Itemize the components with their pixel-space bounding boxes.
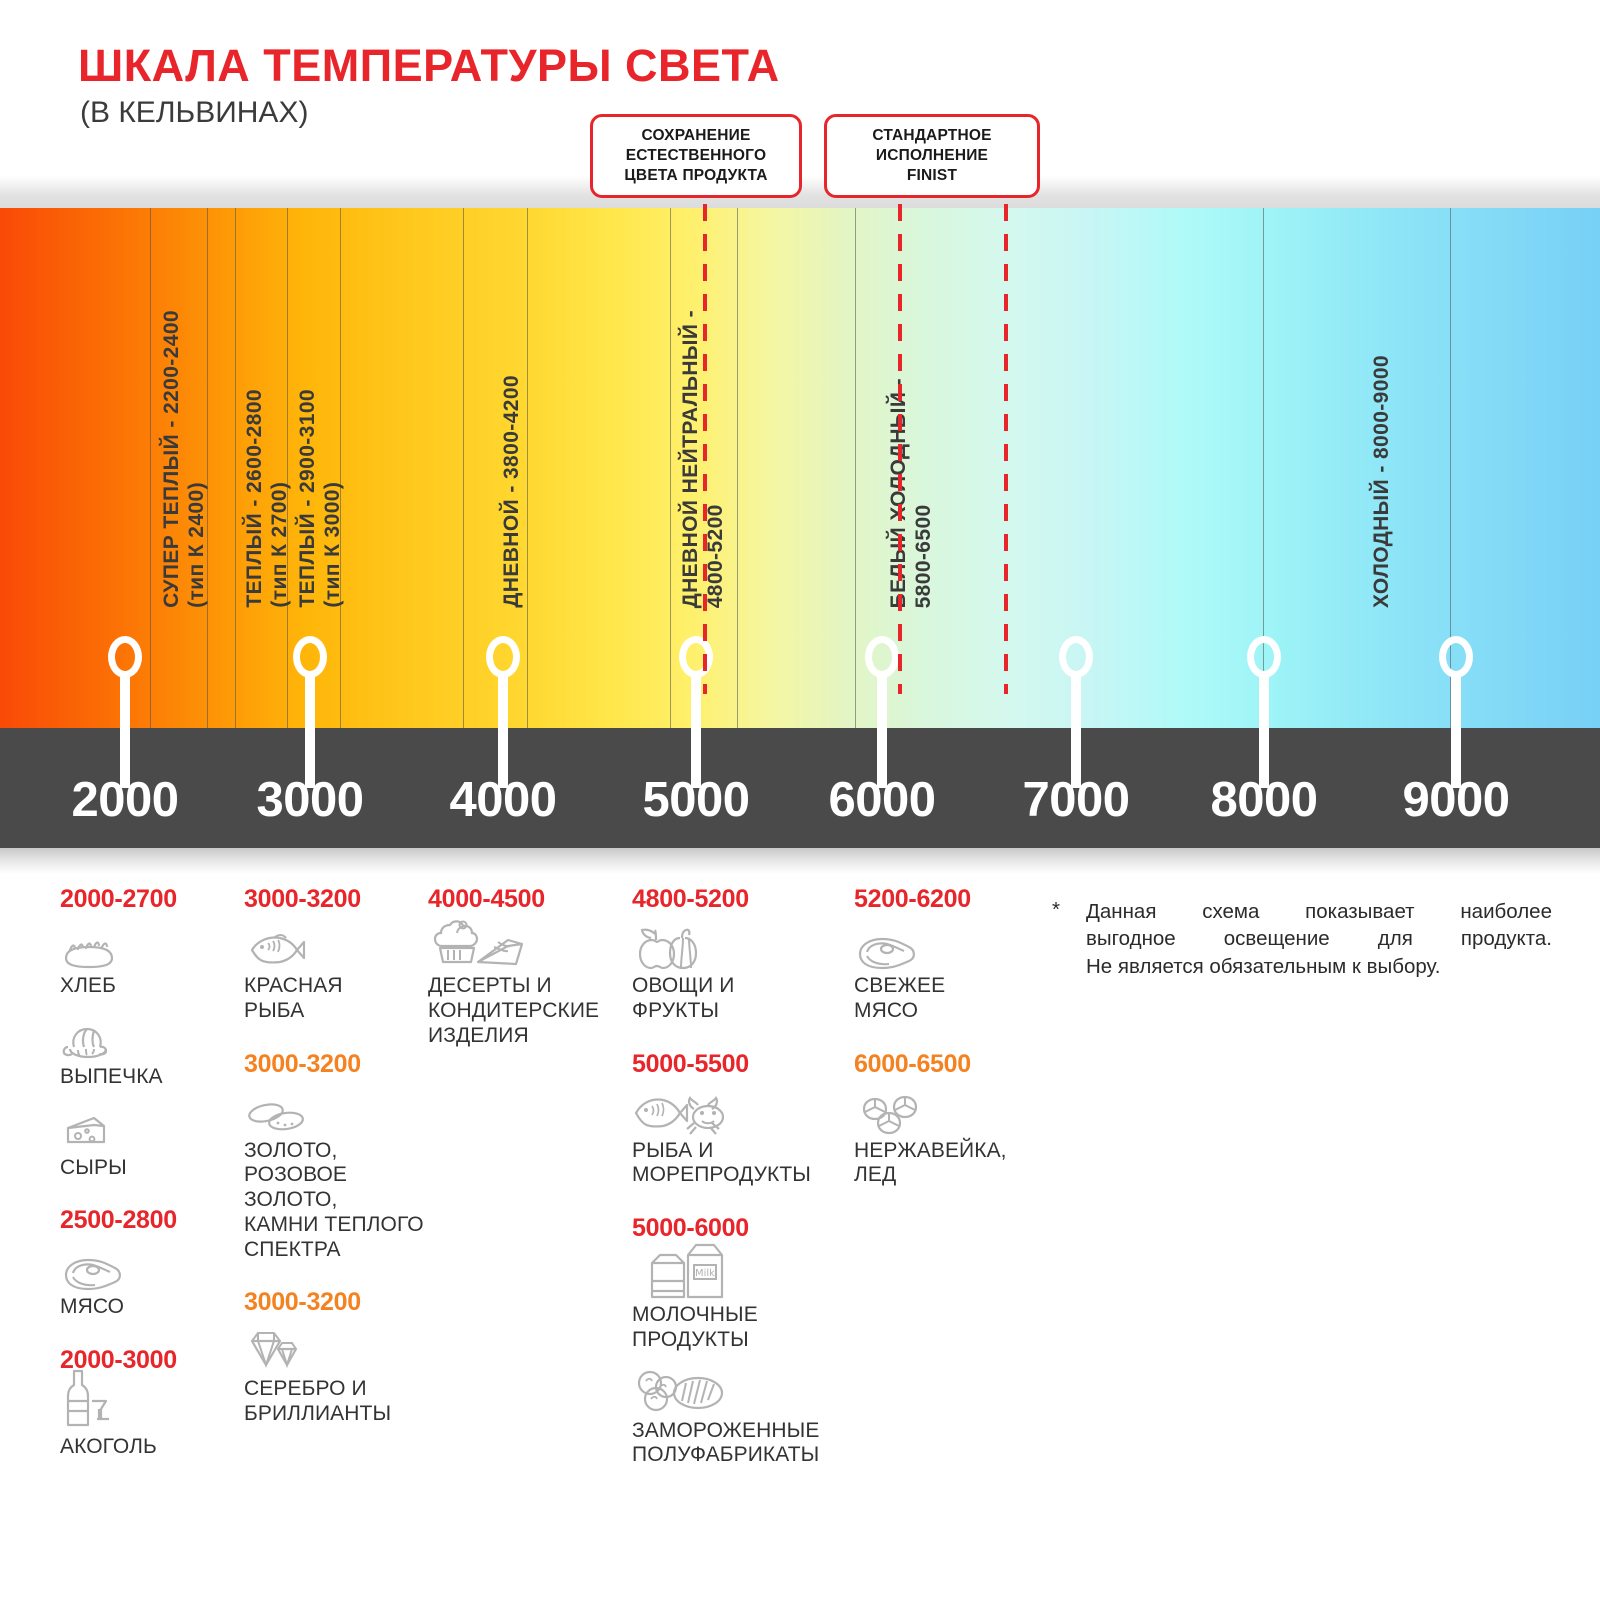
spectrum-gradient: [0, 208, 1600, 728]
legend-item-name: ЗАМОРОЖЕННЫЕ ПОЛУФАБРИКАТЫ: [632, 1419, 832, 1469]
svg-text:Milk: Milk: [695, 1268, 715, 1279]
tick-stem: [498, 674, 508, 788]
legend-group-2500-2800: 2500-2800МЯСО: [60, 1206, 260, 1320]
legend-range-label: 6000-6500: [854, 1050, 1054, 1079]
legend-item-name: ОВОЩИ И ФРУКТЫ: [632, 974, 832, 1024]
fish-crab-icon: [632, 1085, 832, 1135]
legend-range-label: 3000-3200: [244, 885, 444, 914]
legend-item-name: ЗОЛОТО, РОЗОВОЕ ЗОЛОТО, КАМНИ ТЕПЛОГО СП…: [244, 1139, 444, 1263]
note-text: Данная схема показывает наиболеевыгодное…: [1086, 898, 1552, 980]
note-line-2: Не является обязательным к выбору.: [1086, 953, 1552, 980]
legend-group-2000-2700: 2000-2700ХЛЕБВЫПЕЧКАСЫРЫ: [60, 885, 260, 1180]
legend-group-5200-6200: 5200-6200СВЕЖЕЕ МЯСО: [854, 885, 1054, 1024]
dashed-marker-2: [1004, 174, 1008, 694]
red-fish-icon: [244, 920, 444, 970]
dashed-marker-0: [703, 174, 707, 694]
legend-item: ОВОЩИ И ФРУКТЫ: [632, 920, 832, 1024]
kelvin-axis: [0, 728, 1600, 848]
fresh-meat-icon: [854, 920, 1054, 970]
tick-circle: [679, 636, 713, 678]
note-line-1: выгодное освещение для продукта.: [1086, 925, 1552, 952]
legend-item: КРАСНАЯ РЫБА: [244, 920, 444, 1024]
tick-stem: [1259, 674, 1269, 788]
band-divider-7: [670, 208, 671, 728]
tick-circle: [1247, 636, 1281, 678]
milk-icon: Milk: [632, 1249, 832, 1299]
legend-item: ХЛЕБ: [60, 920, 260, 999]
gold-rings-icon: [244, 1085, 444, 1135]
frozen-food-icon: [632, 1365, 832, 1415]
legend-item: ВЫПЕЧКА: [60, 1011, 260, 1090]
band-label-2: ТЕПЛЫЙ - 2900-3100 (тип К 3000): [296, 389, 346, 608]
tick-stem: [120, 674, 130, 788]
legend-range-label: 3000-3200: [244, 1288, 444, 1317]
legend-range-label: 3000-3200: [244, 1050, 444, 1079]
tick-circle: [108, 636, 142, 678]
legend-range-label: 2500-2800: [60, 1206, 260, 1235]
tick-stem: [1451, 674, 1461, 788]
legend-col-4000: 4000-4500ДЕСЕРТЫ И КОНДИТЕРСКИЕ ИЗДЕЛИЯ: [428, 885, 628, 1074]
tick-stem: [305, 674, 315, 788]
legend-item-name: СЕРЕБРО И БРИЛЛИАНТЫ: [244, 1377, 444, 1427]
page-title: ШКАЛА ТЕМПЕРАТУРЫ СВЕТА: [78, 40, 780, 92]
legend-item: АКОГОЛЬ: [60, 1381, 260, 1460]
legend-group-3000-3200: 3000-3200СЕРЕБРО И БРИЛЛИАНТЫ: [244, 1288, 444, 1427]
legend-range-label: 5000-5500: [632, 1050, 832, 1079]
legend-group-6000-6500: 6000-6500НЕРЖАВЕЙКА, ЛЕД: [854, 1050, 1054, 1189]
legend-group-5000-5500: 5000-5500РЫБА И МОРЕПРОДУКТЫ: [632, 1050, 832, 1189]
legend-range-label: 2000-2700: [60, 885, 260, 914]
legend-item-name: СВЕЖЕЕ МЯСО: [854, 974, 1054, 1024]
legend-item: СВЕЖЕЕ МЯСО: [854, 920, 1054, 1024]
legend-range-label: 5000-6000: [632, 1214, 832, 1243]
legend-item: ЗАМОРОЖЕННЫЕ ПОЛУФАБРИКАТЫ: [632, 1365, 832, 1469]
band-label-0: СУПЕР ТЕПЛЫЙ - 2200-2400 (тип К 2400): [160, 310, 210, 608]
vegetables-fruits-icon: [632, 920, 832, 970]
band-label-6: ХОЛОДНЫЙ - 8000-9000: [1370, 355, 1395, 608]
legend-item: MilkМОЛОЧНЫЕ ПРОДУКТЫ: [632, 1249, 832, 1353]
tick-stem: [691, 674, 701, 788]
legend-group-3000-3200: 3000-3200ЗОЛОТО, РОЗОВОЕ ЗОЛОТО, КАМНИ Т…: [244, 1050, 444, 1263]
band-divider-2: [235, 208, 236, 728]
legend-group-4000-4500: 4000-4500ДЕСЕРТЫ И КОНДИТЕРСКИЕ ИЗДЕЛИЯ: [428, 885, 628, 1048]
ice-cubes-icon: [854, 1085, 1054, 1135]
page-subtitle: (В КЕЛЬВИНАХ): [80, 96, 308, 130]
tick-circle: [486, 636, 520, 678]
legend-item-name: КРАСНАЯ РЫБА: [244, 974, 444, 1024]
note-line-0: Данная схема показывает наиболее: [1086, 898, 1552, 925]
cheese-icon: [60, 1102, 260, 1152]
legend-group-2000-3000: 2000-3000АКОГОЛЬ: [60, 1346, 260, 1460]
legend-range-label: 4800-5200: [632, 885, 832, 914]
dessert-icon: [428, 920, 628, 970]
legend-item-name: АКОГОЛЬ: [60, 1435, 260, 1460]
legend-item-name: СЫРЫ: [60, 1156, 260, 1181]
bread-icon: [60, 920, 260, 970]
axis-bottom-shadow: [0, 848, 1600, 874]
note-asterisk: *: [1052, 898, 1060, 922]
legend-group-3000-3200: 3000-3200КРАСНАЯ РЫБА: [244, 885, 444, 1024]
legend-col-2000: 2000-2700ХЛЕБВЫПЕЧКАСЫРЫ2500-2800МЯСО200…: [60, 885, 260, 1486]
legend-item: МЯСО: [60, 1241, 260, 1320]
legend-group-4800-5200: 4800-5200ОВОЩИ И ФРУКТЫ: [632, 885, 832, 1024]
steak-icon: [60, 1241, 260, 1291]
tick-stem: [877, 674, 887, 788]
croissant-icon: [60, 1011, 260, 1061]
tick-stem: [1071, 674, 1081, 788]
legend-item-name: МЯСО: [60, 1295, 260, 1320]
callout-finist-standard: СТАНДАРТНОЕ ИСПОЛНЕНИЕ FINIST: [824, 114, 1040, 198]
legend-col-4800: 4800-5200ОВОЩИ И ФРУКТЫ5000-5500РЫБА И М…: [632, 885, 832, 1494]
legend-item: ЗОЛОТО, РОЗОВОЕ ЗОЛОТО, КАМНИ ТЕПЛОГО СП…: [244, 1085, 444, 1263]
legend-item: РЫБА И МОРЕПРОДУКТЫ: [632, 1085, 832, 1189]
tick-circle: [1059, 636, 1093, 678]
legend-item-name: ВЫПЕЧКА: [60, 1065, 260, 1090]
spectrum-band: СУПЕР ТЕПЛЫЙ - 2200-2400 (тип К 2400)ТЕП…: [0, 208, 1600, 728]
legend-item-name: ДЕСЕРТЫ И КОНДИТЕРСКИЕ ИЗДЕЛИЯ: [428, 974, 628, 1048]
diamond-icon: [244, 1323, 444, 1373]
legend-item-name: РЫБА И МОРЕПРОДУКТЫ: [632, 1139, 832, 1189]
dashed-marker-1: [898, 174, 902, 694]
legend-item-name: ХЛЕБ: [60, 974, 260, 999]
legend-item: НЕРЖАВЕЙКА, ЛЕД: [854, 1085, 1054, 1189]
tick-circle: [1439, 636, 1473, 678]
legend-col-5200: 5200-6200СВЕЖЕЕ МЯСО6000-6500НЕРЖАВЕЙКА,…: [854, 885, 1054, 1214]
band-divider-9: [855, 208, 856, 728]
legend-item: ДЕСЕРТЫ И КОНДИТЕРСКИЕ ИЗДЕЛИЯ: [428, 920, 628, 1048]
band-divider-0: [150, 208, 151, 728]
infographic-root: ШКАЛА ТЕМПЕРАТУРЫ СВЕТА (В КЕЛЬВИНАХ) СО…: [0, 0, 1600, 1600]
tick-circle: [865, 636, 899, 678]
legend-item-name: МОЛОЧНЫЕ ПРОДУКТЫ: [632, 1303, 832, 1353]
tick-circle: [293, 636, 327, 678]
legend-group-5000-6000: 5000-6000MilkМОЛОЧНЫЕ ПРОДУКТЫЗАМОРОЖЕНН…: [632, 1214, 832, 1468]
band-divider-5: [463, 208, 464, 728]
band-divider-8: [737, 208, 738, 728]
legend-item: СЕРЕБРО И БРИЛЛИАНТЫ: [244, 1323, 444, 1427]
band-label-5: БЕЛЫЙ ХОЛОДНЫЙ - 5800-6500: [887, 378, 937, 608]
legend-range-label: 4000-4500: [428, 885, 628, 914]
band-label-3: ДНЕВНОЙ - 3800-4200: [500, 375, 525, 608]
band-divider-6: [527, 208, 528, 728]
legend-range-label: 5200-6200: [854, 885, 1054, 914]
alcohol-icon: [60, 1381, 260, 1431]
callout-natural-color: СОХРАНЕНИЕ ЕСТЕСТВЕННОГО ЦВЕТА ПРОДУКТА: [590, 114, 802, 198]
legend-item-name: НЕРЖАВЕЙКА, ЛЕД: [854, 1139, 1054, 1189]
band-label-1: ТЕПЛЫЙ - 2600-2800 (тип К 2700): [243, 389, 293, 608]
legend-col-3000: 3000-3200КРАСНАЯ РЫБА3000-3200ЗОЛОТО, РО…: [244, 885, 444, 1453]
legend-item: СЫРЫ: [60, 1102, 260, 1181]
